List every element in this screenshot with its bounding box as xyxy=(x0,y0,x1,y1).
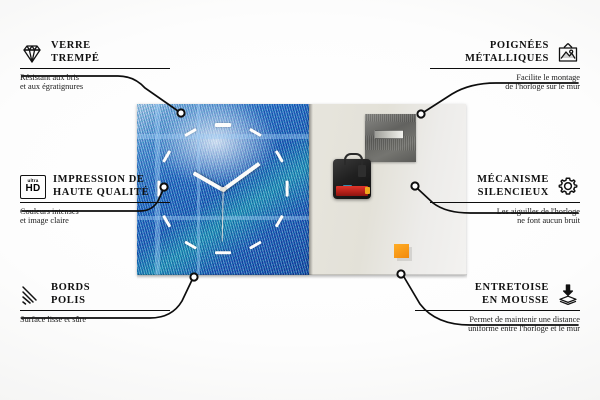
product-image xyxy=(137,104,466,275)
battery-part xyxy=(336,186,368,196)
callout-title-line2: EN MOUSSE xyxy=(475,295,549,308)
callout-header: ENTRETOISE EN MOUSSE xyxy=(415,282,580,307)
minute-hand xyxy=(222,162,261,192)
foam-spacer-part xyxy=(394,244,409,258)
hanger-slot xyxy=(374,130,404,139)
metal-hanger-part xyxy=(365,114,416,162)
hour-hand xyxy=(193,171,224,191)
callout-title-line1: IMPRESSION DE xyxy=(53,174,149,187)
diamond-icon xyxy=(20,41,44,65)
hour-marker xyxy=(184,128,197,137)
callout-divider xyxy=(430,202,580,203)
pattern-grid-line xyxy=(197,104,200,275)
callout-header: MÉCANISME SILENCIEUX xyxy=(430,174,580,199)
callout-impression-haute-qualite: ultra HD IMPRESSION DE HAUTE QUALITÉ Cou… xyxy=(20,174,170,226)
callout-divider xyxy=(20,202,170,203)
clock-mechanism-part xyxy=(333,159,371,199)
picture-hanger-icon xyxy=(556,41,580,65)
hour-marker xyxy=(275,215,284,228)
hour-marker xyxy=(249,128,262,137)
callout-verre-trempe: VERRE TREMPÉ Résistant aux bris et aux é… xyxy=(20,40,170,92)
callout-header: BORDS POLIS xyxy=(20,282,170,307)
callout-desc-line1: Surface lisse et sûre xyxy=(20,315,170,325)
hour-marker xyxy=(184,241,197,250)
callout-title-line2: SILENCIEUX xyxy=(477,187,549,200)
callout-desc-line2: et image claire xyxy=(20,216,170,226)
ultra-hd-icon-main: HD xyxy=(25,184,40,194)
second-hand xyxy=(221,190,223,242)
callout-desc-line2: de l'horloge sur le mur xyxy=(430,82,580,92)
polished-edges-icon xyxy=(20,283,44,307)
callout-title-line1: MÉCANISME xyxy=(477,174,549,187)
ultra-hd-icon: ultra HD xyxy=(20,175,46,199)
hour-marker xyxy=(275,150,284,163)
infographic-canvas: VERRE TREMPÉ Résistant aux bris et aux é… xyxy=(0,0,600,400)
mechanism-hook xyxy=(344,153,363,165)
callout-desc-line1: Facilite le montage xyxy=(430,73,580,83)
callout-title-line1: POIGNÉES xyxy=(465,40,549,53)
callout-title-line2: MÉTALLIQUES xyxy=(465,53,549,66)
gear-icon xyxy=(556,175,580,199)
callout-header: VERRE TREMPÉ xyxy=(20,40,170,65)
callout-desc-line2: et aux égratignures xyxy=(20,82,170,92)
product-shadow xyxy=(137,274,467,279)
callout-desc-line2: uniforme entre l'horloge et le mur xyxy=(415,324,580,334)
callout-mecanisme-silencieux: MÉCANISME SILENCIEUX Les aiguilles de l'… xyxy=(430,174,580,226)
mechanism-detail xyxy=(358,165,366,177)
foam-spacer-icon xyxy=(556,283,580,307)
callout-desc-line1: Couleurs intenses xyxy=(20,207,170,217)
hour-marker xyxy=(285,181,288,197)
hour-marker xyxy=(249,241,262,250)
callout-desc-line1: Résistant aux bris xyxy=(20,73,170,83)
callout-divider xyxy=(20,68,170,69)
callout-divider xyxy=(415,310,580,311)
callout-title-line1: ENTRETOISE xyxy=(475,282,549,295)
hour-marker xyxy=(162,150,171,163)
clock-center-pin xyxy=(221,187,226,192)
callout-desc-line2: ne font aucun bruit xyxy=(430,216,580,226)
callout-title-line1: BORDS xyxy=(51,282,90,295)
callout-title-line2: POLIS xyxy=(51,295,90,308)
pattern-grid-line xyxy=(137,134,309,139)
hour-marker xyxy=(215,251,231,254)
callout-entretoise-en-mousse: ENTRETOISE EN MOUSSE Permet de maintenir… xyxy=(415,282,580,334)
callout-bords-polis: BORDS POLIS Surface lisse et sûre xyxy=(20,282,170,324)
callout-divider xyxy=(430,68,580,69)
callout-header: POIGNÉES MÉTALLIQUES xyxy=(430,40,580,65)
callout-divider xyxy=(20,310,170,311)
callout-title-line2: TREMPÉ xyxy=(51,53,100,66)
callout-desc-line1: Les aiguilles de l'horloge xyxy=(430,207,580,217)
callout-poignees-metalliques: POIGNÉES MÉTALLIQUES Facilite le montage… xyxy=(430,40,580,92)
callout-title-line1: VERRE xyxy=(51,40,100,53)
callout-header: ultra HD IMPRESSION DE HAUTE QUALITÉ xyxy=(20,174,170,199)
callout-desc-line1: Permet de maintenir une distance xyxy=(415,315,580,325)
callout-title-line2: HAUTE QUALITÉ xyxy=(53,187,149,200)
hour-marker xyxy=(215,123,231,126)
